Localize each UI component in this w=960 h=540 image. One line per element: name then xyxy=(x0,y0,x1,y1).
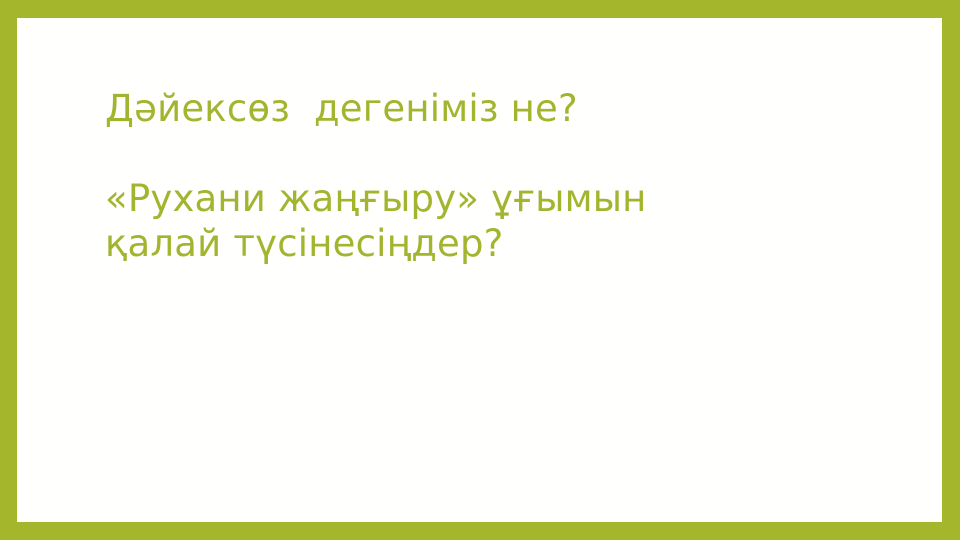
concept-question-text: «Рухани жаңғыру» ұғымын қалай түсінесіңд… xyxy=(105,176,765,266)
question-text: Дәйексөз дегеніміз не? xyxy=(105,86,902,131)
slide-text-body: Дәйексөз дегеніміз не? «Рухани жаңғыру» … xyxy=(105,86,902,266)
slide-content-area: Дәйексөз дегеніміз не? «Рухани жаңғыру» … xyxy=(17,18,942,522)
slide: Дәйексөз дегеніміз не? «Рухани жаңғыру» … xyxy=(0,0,960,540)
